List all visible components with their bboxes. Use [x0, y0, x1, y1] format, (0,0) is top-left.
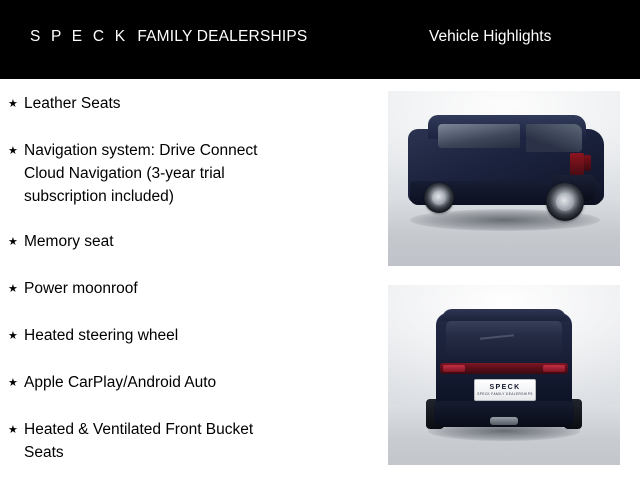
license-plate: SPECK SPECK FAMILY DEALERSHIPS	[474, 379, 536, 401]
star-bullet-icon: ★	[8, 277, 24, 301]
list-item: ★ Heated steering wheel	[8, 324, 364, 348]
suv-illustration	[394, 113, 614, 241]
vehicle-rear-image: SPECK SPECK FAMILY DEALERSHIPS	[388, 285, 620, 465]
star-bullet-icon: ★	[8, 418, 24, 442]
star-bullet-icon: ★	[8, 371, 24, 395]
rear-window-glass	[526, 124, 582, 152]
brand-name-rest: FAMILY DEALERSHIPS	[137, 28, 307, 45]
feature-text: Heated steering wheel	[24, 324, 178, 347]
rear-window-glass	[446, 321, 562, 357]
feature-text: Apple CarPlay/Android Auto	[24, 371, 216, 394]
brand-name-spaced: S P E C K	[30, 28, 128, 45]
star-bullet-icon: ★	[8, 230, 24, 254]
list-item: ★ Power moonroof	[8, 277, 364, 301]
vehicle-rear-three-quarter-image	[388, 91, 620, 266]
license-plate-subtext: SPECK FAMILY DEALERSHIPS	[477, 393, 533, 396]
taillight-left	[584, 155, 591, 171]
feature-text: Power moonroof	[24, 277, 138, 300]
taillight-right	[570, 153, 584, 175]
feature-text: Memory seat	[24, 230, 114, 253]
feature-text: Heated & Ventilated Front Bucket Seats	[24, 418, 253, 464]
side-window-glass	[438, 124, 520, 148]
list-item: ★ Leather Seats	[8, 92, 364, 116]
list-item: ★ Memory seat	[8, 230, 364, 254]
taillight-bar	[440, 363, 568, 374]
rear-diffuser	[490, 417, 518, 425]
vehicle-roofline	[442, 309, 566, 321]
suv-rear-illustration: SPECK SPECK FAMILY DEALERSHIPS	[418, 303, 590, 449]
slide: S P E C K FAMILY DEALERSHIPS Vehicle Hig…	[0, 0, 640, 480]
front-wheel	[424, 183, 454, 213]
license-plate-name: SPECK	[489, 384, 520, 391]
feature-text: Leather Seats	[24, 92, 121, 115]
star-bullet-icon: ★	[8, 92, 24, 116]
header-bar: S P E C K FAMILY DEALERSHIPS Vehicle Hig…	[0, 0, 640, 79]
list-item: ★ Apple CarPlay/Android Auto	[8, 371, 364, 395]
brand-logo: S P E C K FAMILY DEALERSHIPS	[30, 28, 307, 46]
page-title: Vehicle Highlights	[429, 28, 551, 46]
rear-wheel	[546, 183, 584, 221]
feature-text: Navigation system: Drive Connect Cloud N…	[24, 139, 257, 208]
list-item: ★ Heated & Ventilated Front Bucket Seats	[8, 418, 364, 464]
star-bullet-icon: ★	[8, 139, 24, 163]
feature-list: ★ Leather Seats ★ Navigation system: Dri…	[0, 79, 372, 480]
star-bullet-icon: ★	[8, 324, 24, 348]
list-item: ★ Navigation system: Drive Connect Cloud…	[8, 139, 364, 208]
